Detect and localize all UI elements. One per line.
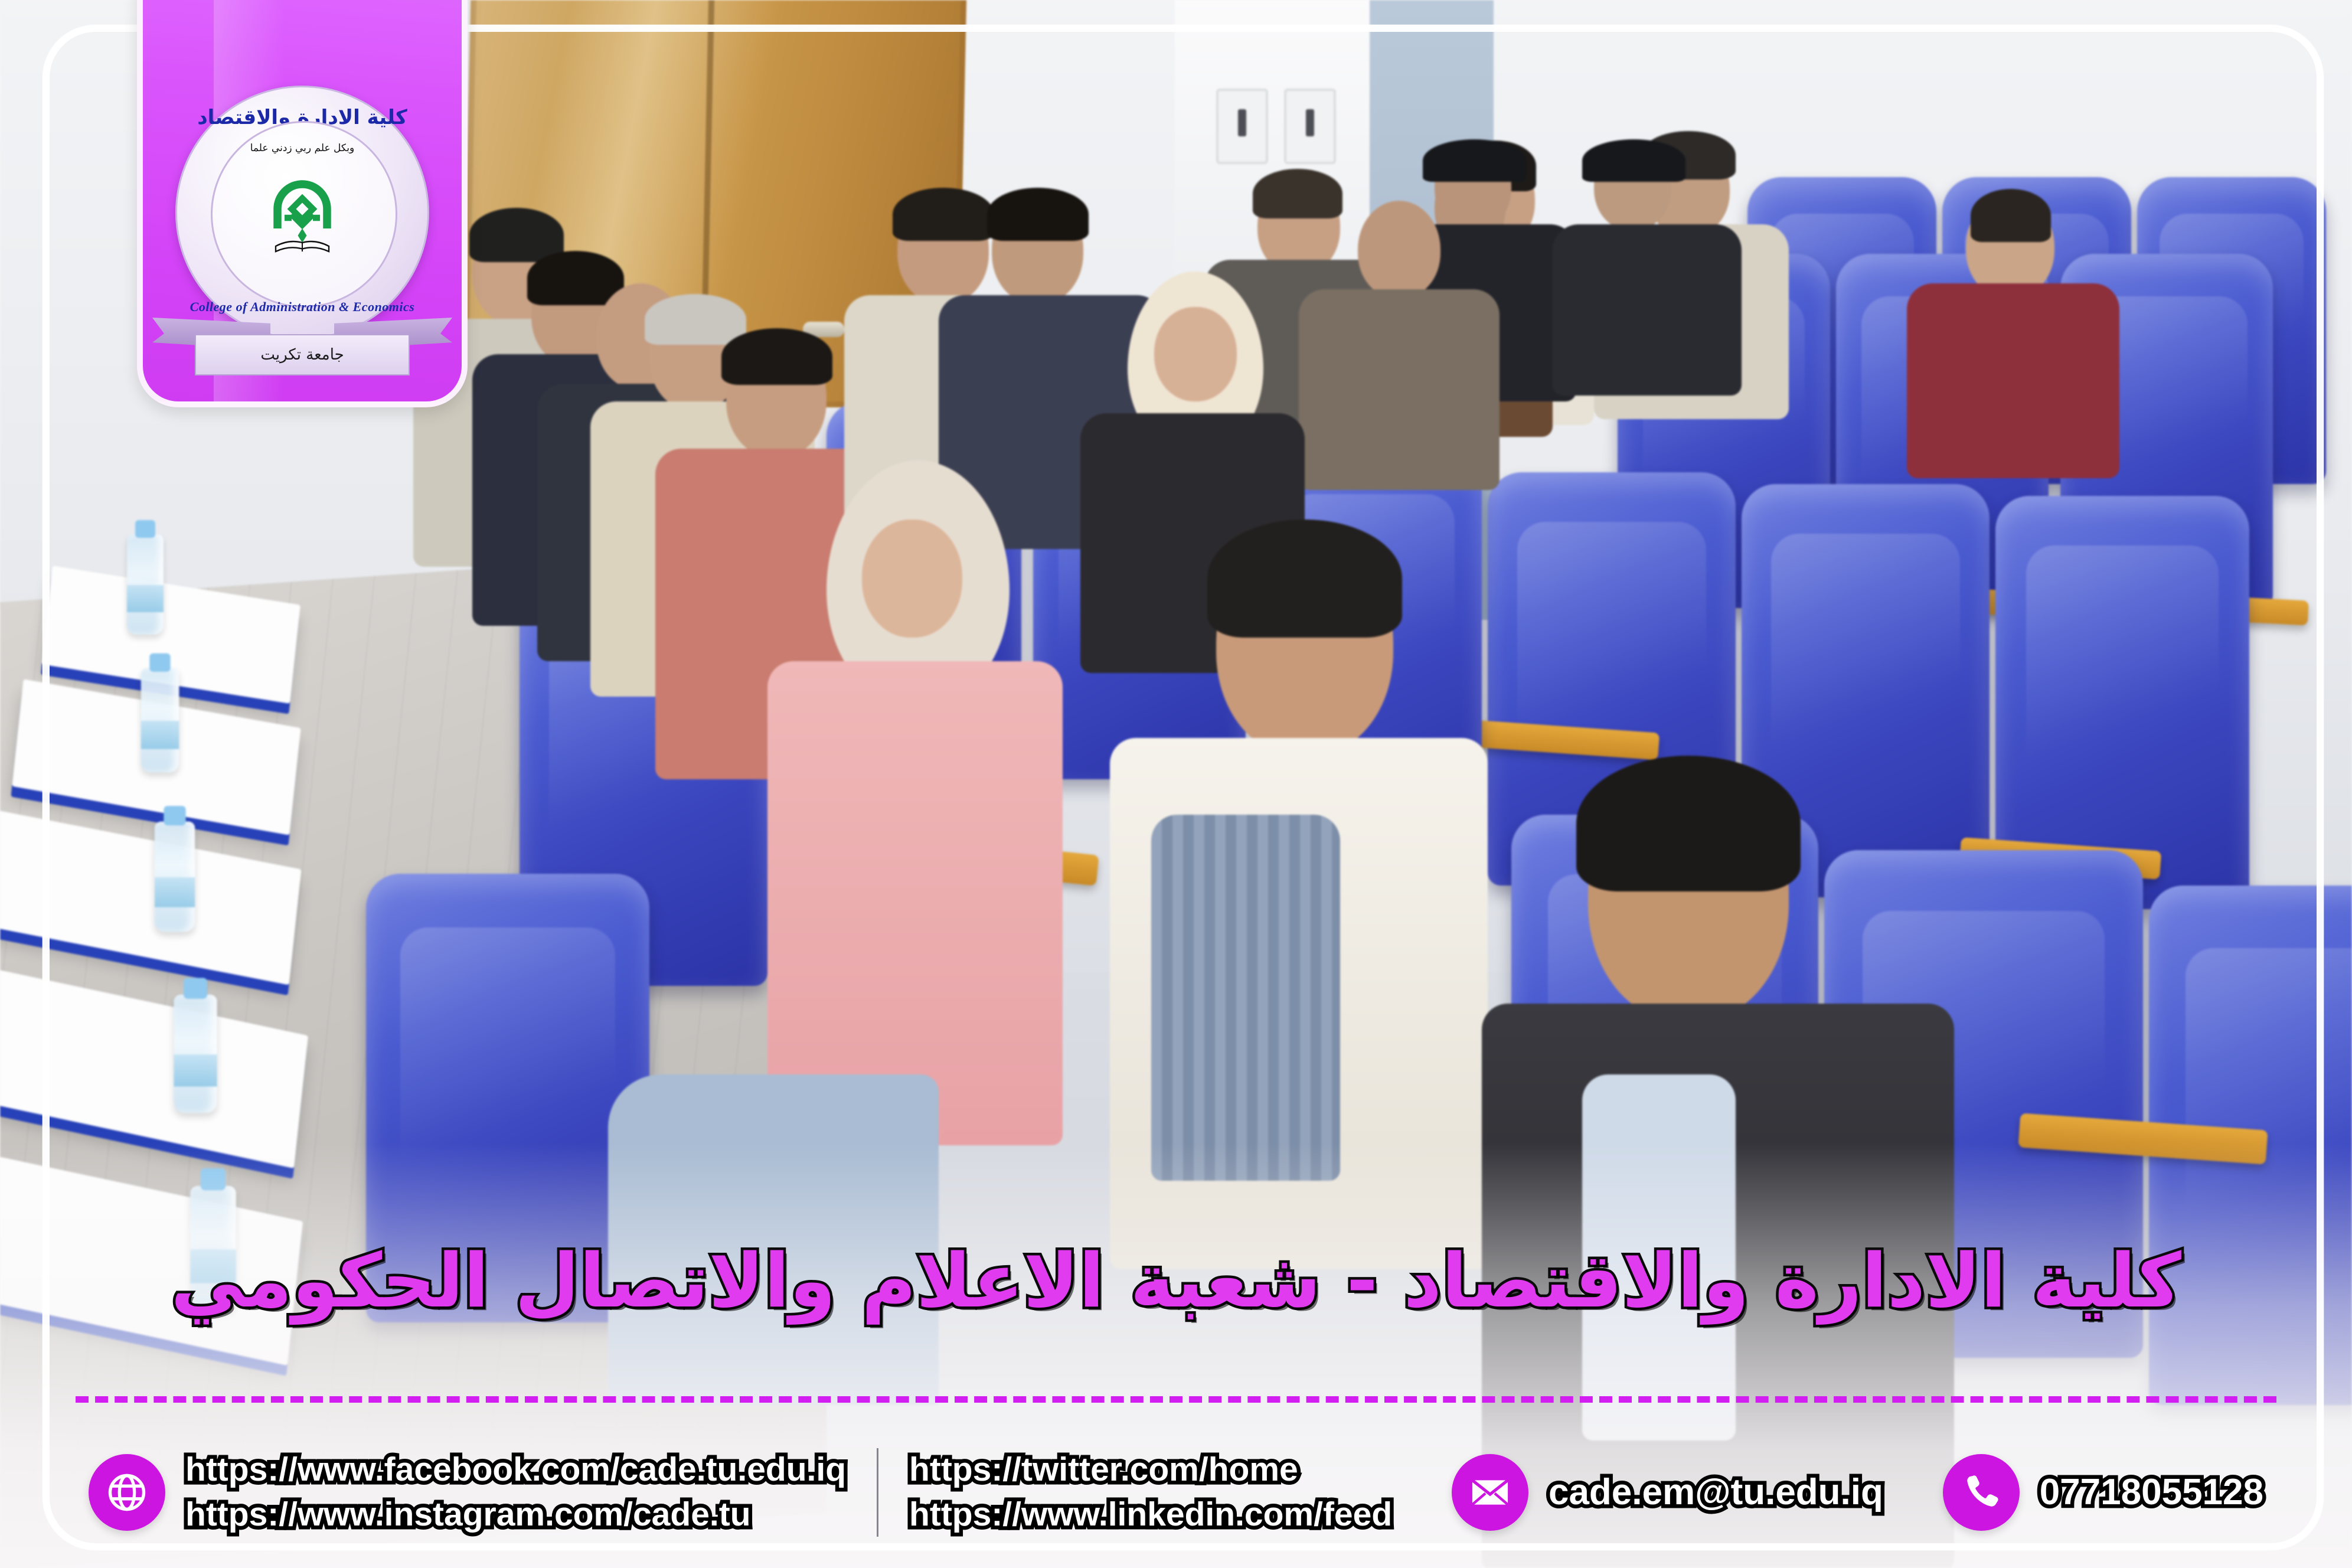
contact-group-email: cade.em@tu.edu.iq: [1452, 1454, 1883, 1531]
logo-banner: كلية الادارة والاقتصاد وبكل علم ربي زدني…: [137, 0, 468, 407]
footer-divider-1: [877, 1448, 878, 1537]
facebook-url[interactable]: https://www.facebook.com/cade.tu.edu.iq: [185, 1452, 846, 1488]
water-bottle: [127, 534, 164, 635]
globe-icon[interactable]: [89, 1454, 165, 1531]
linkedin-url[interactable]: https://www.linkedin.com/feed: [909, 1497, 1392, 1533]
light-switch-left: [1216, 89, 1268, 164]
poster-root: كلية الادارة والاقتصاد - شعبة الاعلام وا…: [0, 0, 2352, 1568]
water-bottle: [174, 995, 217, 1113]
light-switch-right: [1284, 89, 1336, 164]
envelope-icon[interactable]: [1452, 1454, 1528, 1531]
twitter-url[interactable]: https://twitter.com/home: [909, 1452, 1392, 1488]
contact-group-social-2: https://twitter.com/home https://www.lin…: [909, 1452, 1392, 1533]
university-seal-emblem: [258, 174, 347, 262]
instagram-url[interactable]: https://www.instagram.com/cade.tu: [185, 1497, 846, 1533]
phone-number[interactable]: 07718055128: [2040, 1473, 2263, 1513]
water-bottle: [141, 668, 179, 773]
seal-ribbon-label: جامعة تكريت: [195, 334, 410, 375]
seal-english-ring-text: College of Administration & Economics: [175, 299, 429, 315]
dashed-divider: [76, 1396, 2276, 1403]
social-links-2: https://twitter.com/home https://www.lin…: [909, 1452, 1392, 1533]
phone-icon[interactable]: [1943, 1454, 2020, 1531]
contact-group-social: https://www.facebook.com/cade.tu.edu.iq …: [89, 1452, 846, 1533]
email-address[interactable]: cade.em@tu.edu.iq: [1549, 1473, 1883, 1513]
seal-arabic-motto: وبكل علم ربي زدني علما: [175, 142, 429, 154]
contact-group-phone: 07718055128: [1943, 1454, 2263, 1531]
water-bottle: [155, 822, 195, 932]
social-links: https://www.facebook.com/cade.tu.edu.iq …: [185, 1452, 846, 1533]
contact-footer: https://www.facebook.com/cade.tu.edu.iq …: [0, 1417, 2352, 1568]
university-logo: كلية الادارة والاقتصاد وبكل علم ربي زدني…: [175, 86, 429, 339]
